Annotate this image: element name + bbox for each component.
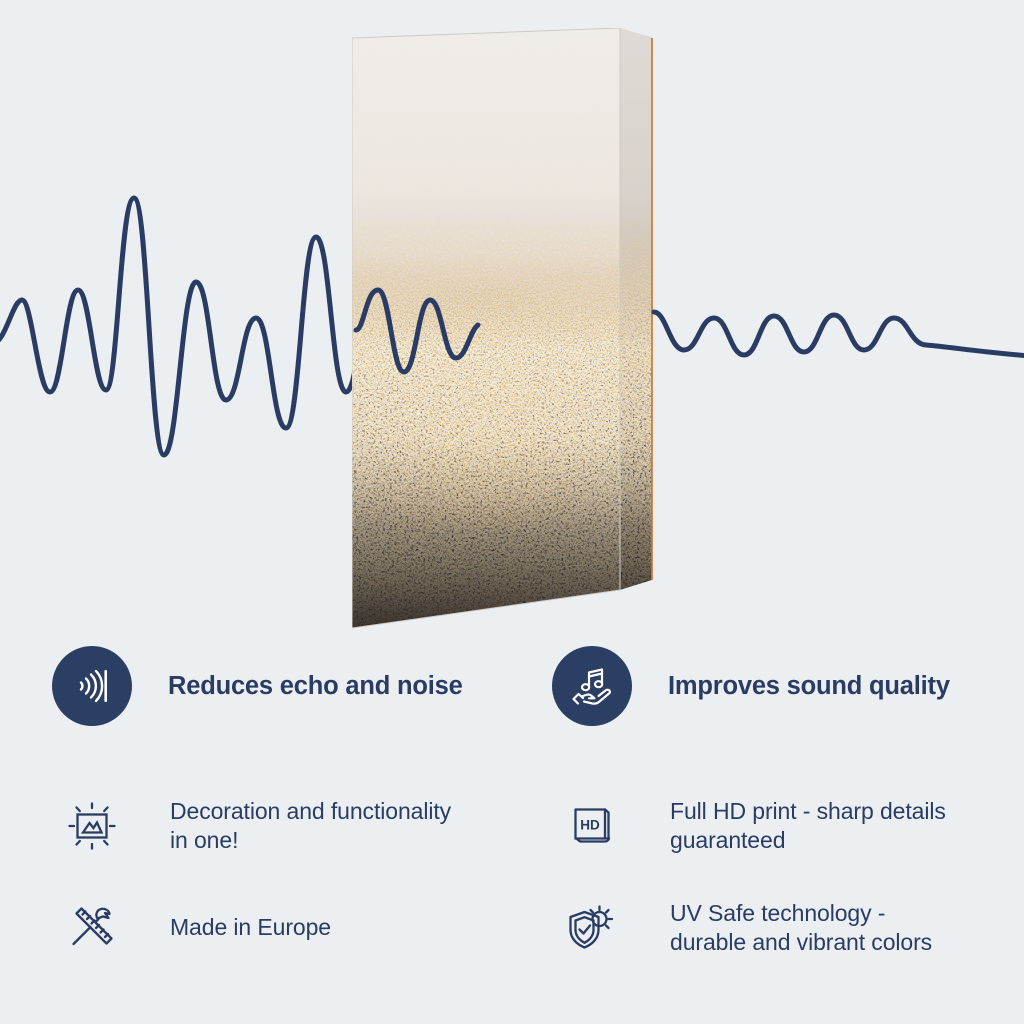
sound-waves-wall-icon: [52, 646, 132, 726]
feature-column-right: Improves sound quality HD Full HD print …: [552, 636, 1014, 974]
framed-picture-rays-icon: [52, 790, 132, 862]
feature-label: Reduces echo and noise: [168, 671, 463, 702]
feature-label: Full HD print - sharp details guaranteed: [670, 797, 946, 856]
feature-label: UV Safe technology - durable and vibrant…: [670, 899, 932, 958]
feature-full-hd-print[interactable]: HD Full HD print - sharp details guarant…: [552, 780, 1014, 872]
hand-music-note-icon: [552, 646, 632, 726]
feature-made-in-europe[interactable]: Made in Europe: [52, 882, 522, 974]
feature-label: Improves sound quality: [668, 671, 950, 702]
feature-improves-sound[interactable]: Improves sound quality: [552, 636, 1014, 736]
feature-label: Made in Europe: [170, 913, 331, 942]
shield-check-sun-icon: [552, 892, 632, 964]
product-feature-card: Reduces echo and noise: [0, 0, 1024, 1024]
feature-reduces-echo[interactable]: Reduces echo and noise: [52, 636, 522, 736]
feature-uv-safe[interactable]: UV Safe technology - durable and vibrant…: [552, 882, 1014, 974]
feature-decoration[interactable]: Decoration and functionality in one!: [52, 780, 522, 872]
ruler-hammer-icon: [52, 892, 132, 964]
svg-text:HD: HD: [580, 818, 600, 833]
feature-column-left: Reduces echo and noise: [52, 636, 522, 974]
feature-label: Decoration and functionality in one!: [170, 797, 451, 856]
hd-print-icon: HD: [552, 790, 632, 862]
